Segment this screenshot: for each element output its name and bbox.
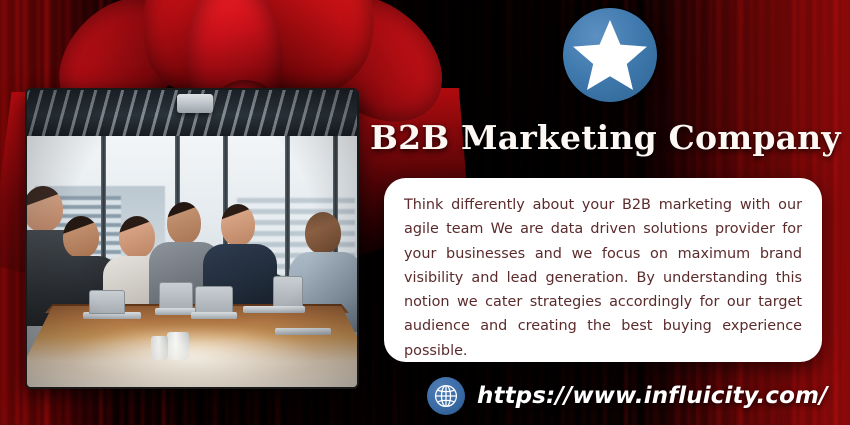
globe-icon xyxy=(427,377,465,415)
description-card: Think differently about your B2B marketi… xyxy=(384,178,822,362)
star-icon xyxy=(572,18,648,92)
marketing-banner: B2B Marketing Company Think differently … xyxy=(0,0,850,425)
photo-vignette xyxy=(27,90,357,387)
star-logo xyxy=(563,8,657,102)
page-title: B2B Marketing Company xyxy=(370,118,840,164)
website-url-row[interactable]: https://www.influicity.com/ xyxy=(427,376,828,416)
business-team-meeting-photo xyxy=(25,88,359,389)
website-url-text[interactable]: https://www.influicity.com/ xyxy=(477,383,828,409)
description-text: Think differently about your B2B marketi… xyxy=(404,193,802,363)
globe-icon-glyph xyxy=(433,383,459,409)
